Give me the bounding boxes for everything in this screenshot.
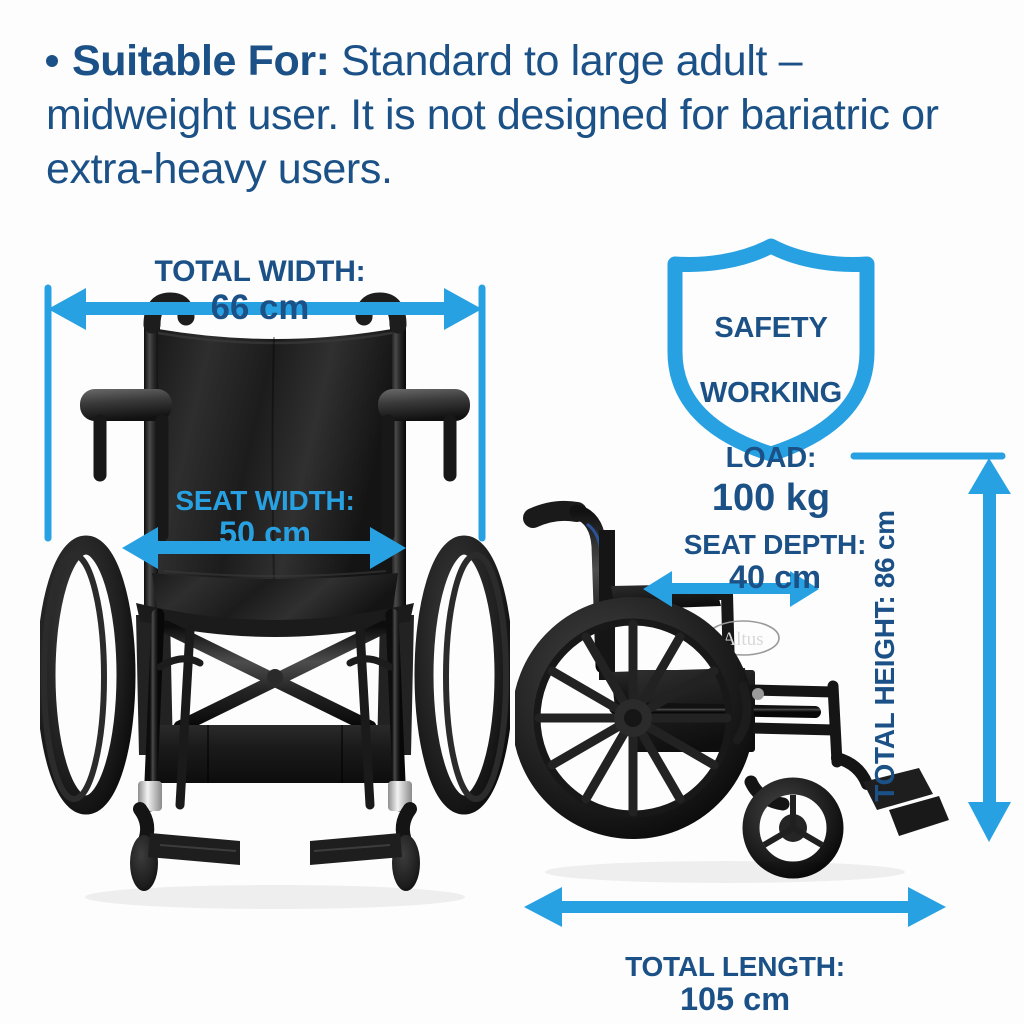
total-height-label: TOTAL HEIGHT: 86 cm [869, 491, 901, 821]
total-width-label: TOTAL WIDTH: 66 cm [110, 224, 410, 359]
double-arrow-vertical [968, 458, 1011, 842]
total-width-value: 66 cm [110, 289, 410, 327]
front-caster-wheel [751, 786, 835, 870]
seat-width-title: SEAT WIDTH: [175, 485, 354, 516]
seat-width-label: SEAT WIDTH: 50 cm [140, 456, 390, 582]
footplate-right [310, 833, 402, 865]
infographic-canvas: Suitable For: Standard to large adult – … [0, 0, 1024, 1024]
badge-line1: SAFETY [714, 312, 827, 344]
double-arrow-horizontal [524, 887, 946, 927]
total-width-title: TOTAL WIDTH: [155, 255, 366, 288]
seat-width-value: 50 cm [140, 516, 390, 551]
suitable-for-text: Suitable For: Standard to large adult – … [46, 34, 976, 197]
total-height-text: TOTAL HEIGHT: 86 cm [869, 510, 900, 801]
brake-left [160, 659, 200, 667]
badge-line2: WORKING [700, 377, 842, 409]
rear-wheel [523, 608, 743, 828]
seat-depth-title: SEAT DEPTH: [684, 529, 866, 560]
suitable-for-label: Suitable For: [72, 37, 330, 85]
badge-line3: LOAD: [726, 442, 817, 474]
bullet-icon [46, 55, 58, 67]
total-length-title: TOTAL LENGTH: [625, 951, 845, 982]
total-length-value: 105 cm [580, 982, 890, 1017]
total-length-label: TOTAL LENGTH: 105 cm [580, 922, 890, 1024]
brake-right [350, 659, 390, 667]
footplate-left [148, 833, 240, 865]
